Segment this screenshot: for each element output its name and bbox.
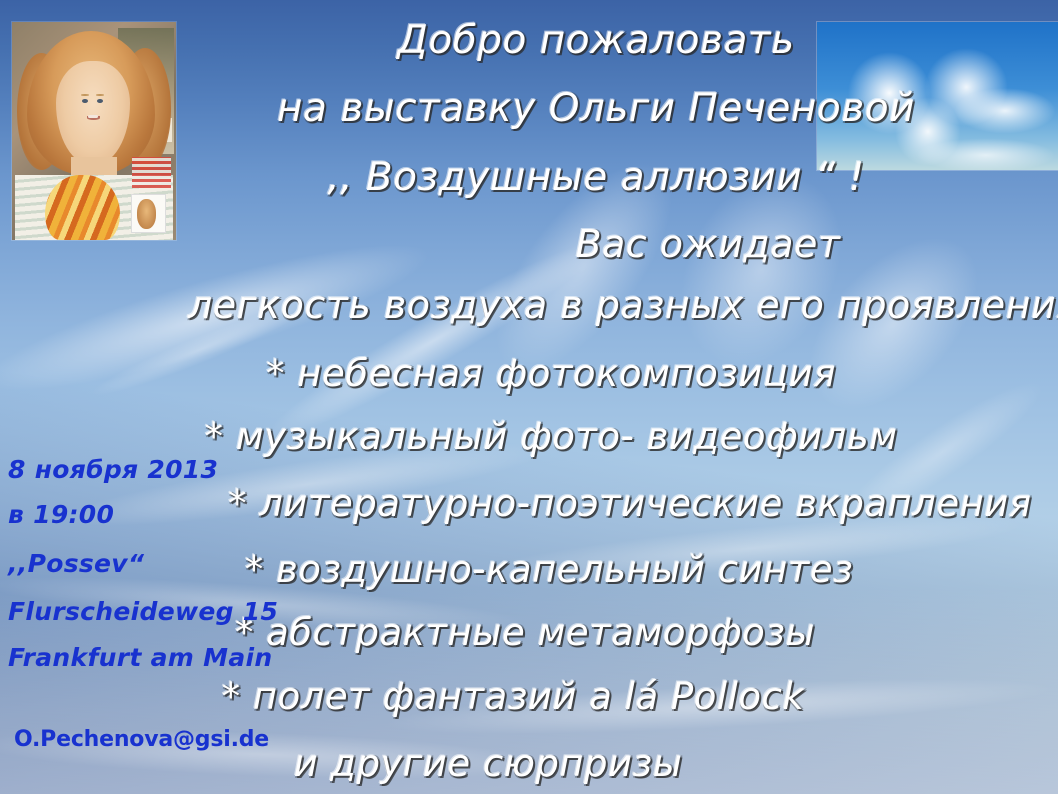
event-street: Flurscheideweg 15 — [8, 597, 278, 626]
event-venue: ,,Possev“ — [8, 549, 144, 578]
event-date: 8 ноября 2013 — [8, 455, 218, 484]
program-item-4: * воздушно-капельный синтез — [0, 548, 1058, 591]
intro-line-2: легкость воздуха в разных его проявления… — [188, 283, 1058, 327]
program-item-2: * музыкальный фото- видеофильм — [0, 415, 1058, 458]
headline-line-1: Добро пожаловать — [0, 18, 1058, 63]
exhibition-invitation-poster: Добро пожаловать на выставку Ольги Печен… — [0, 0, 1058, 794]
program-item-6: * полет фантазий a lá Pollock — [0, 675, 1058, 718]
event-city: Frankfurt am Main — [8, 643, 272, 672]
intro-line-1: Вас ожидает — [0, 222, 1036, 266]
program-item-3: * литературно-поэтические вкрапления — [228, 482, 1032, 525]
headline-line-3: ,, Воздушные аллюзии “ ! — [0, 155, 1058, 200]
headline-line-2: на выставку Ольги Печеновой — [0, 86, 1058, 131]
event-time: в 19:00 — [8, 500, 114, 529]
program-item-1: * небесная фотокомпозиция — [0, 352, 1058, 395]
contact-email[interactable]: O.Pechenova@gsi.de — [14, 727, 269, 752]
